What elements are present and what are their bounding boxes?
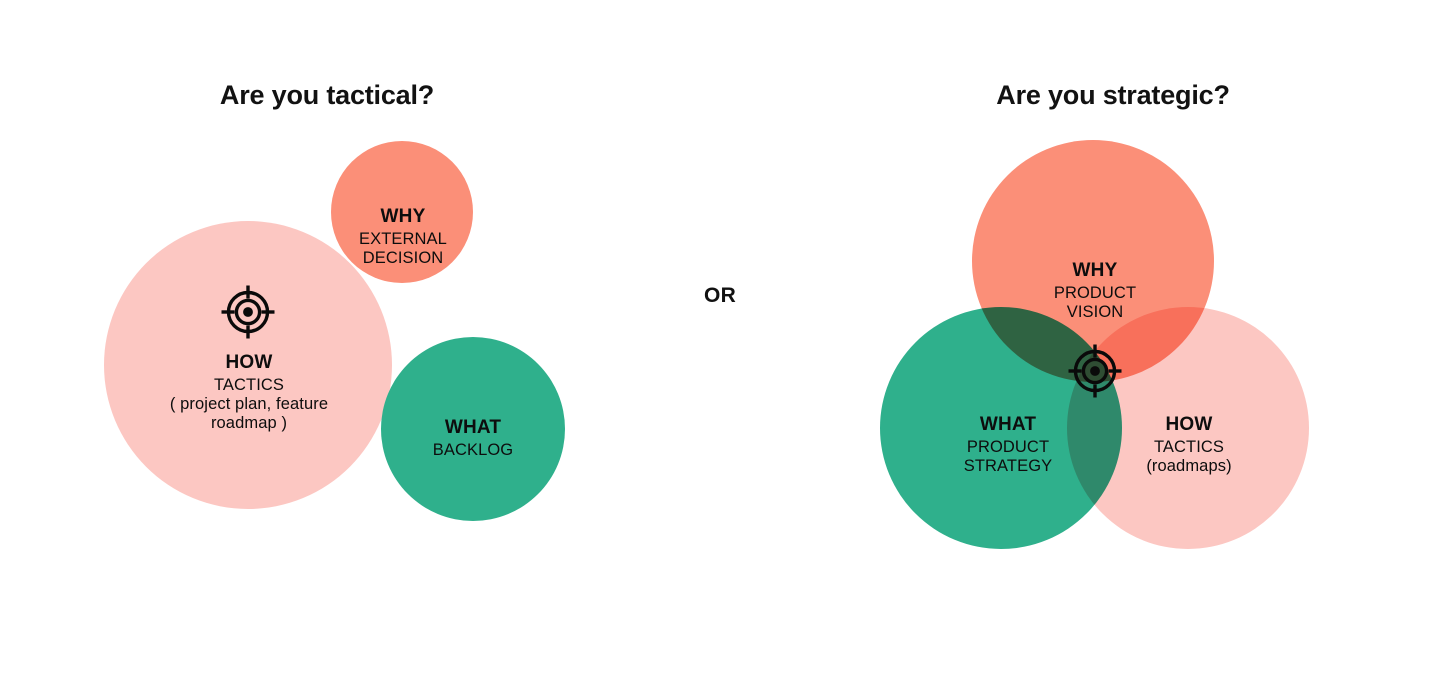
circle-what-tactical — [381, 337, 565, 521]
page-title-strategic: Are you strategic? — [786, 80, 1440, 111]
or-connector-label: OR — [654, 284, 786, 308]
diagram-canvas: HOW TACTICS ( project plan, feature road… — [0, 0, 1440, 684]
circle-how-tactical — [104, 221, 392, 509]
page-title-tactical: Are you tactical? — [0, 80, 654, 111]
target-icon — [220, 284, 276, 345]
target-icon — [1067, 343, 1123, 404]
circle-why-tactical — [331, 141, 473, 283]
